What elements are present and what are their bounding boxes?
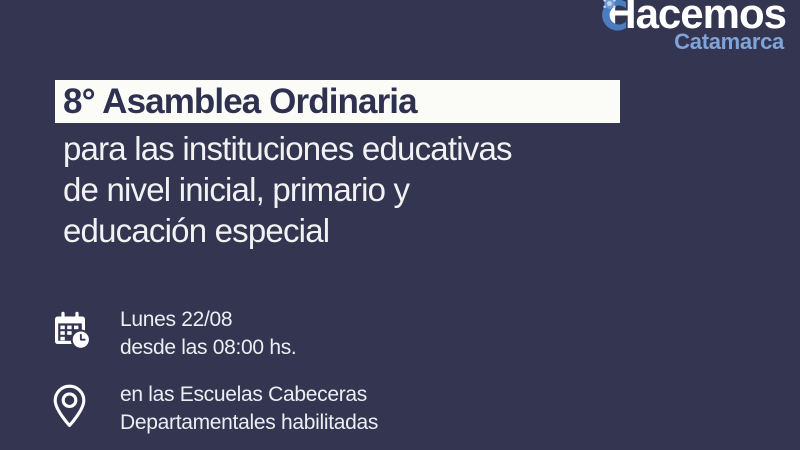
event-date-row: Lunes 22/08 desde las 08:00 hs. bbox=[52, 303, 296, 362]
event-poster: Hacemos Catamarca 8° Asamblea Ordinaria … bbox=[0, 0, 800, 450]
logo-wordmark: Hacemos bbox=[496, 0, 786, 34]
poster-title-block: 8° Asamblea Ordinaria para las instituci… bbox=[55, 80, 755, 251]
map-pin-icon bbox=[52, 378, 106, 434]
calendar-clock-icon bbox=[52, 303, 106, 359]
page-title: 8° Asamblea Ordinaria bbox=[55, 80, 620, 123]
event-location-text: en las Escuelas Cabeceras Departamentale… bbox=[120, 378, 378, 437]
poster-subtitle: para las instituciones educativas de niv… bbox=[55, 128, 755, 251]
subtitle-line-1: para las instituciones educativas bbox=[63, 128, 755, 169]
event-location-row: en las Escuelas Cabeceras Departamentale… bbox=[52, 378, 378, 437]
event-date-text: Lunes 22/08 desde las 08:00 hs. bbox=[120, 303, 296, 362]
event-date-line-1: Lunes 22/08 bbox=[120, 306, 296, 334]
hacemos-catamarca-logo: Hacemos Catamarca bbox=[496, 0, 786, 52]
event-location-line-2: Departamentales habilitadas bbox=[120, 409, 378, 437]
event-date-line-2: desde las 08:00 hs. bbox=[120, 334, 296, 362]
subtitle-line-2: de nivel inicial, primario y bbox=[63, 169, 755, 210]
event-location-line-1: en las Escuelas Cabeceras bbox=[120, 381, 378, 409]
subtitle-line-3: educación especial bbox=[63, 210, 755, 251]
